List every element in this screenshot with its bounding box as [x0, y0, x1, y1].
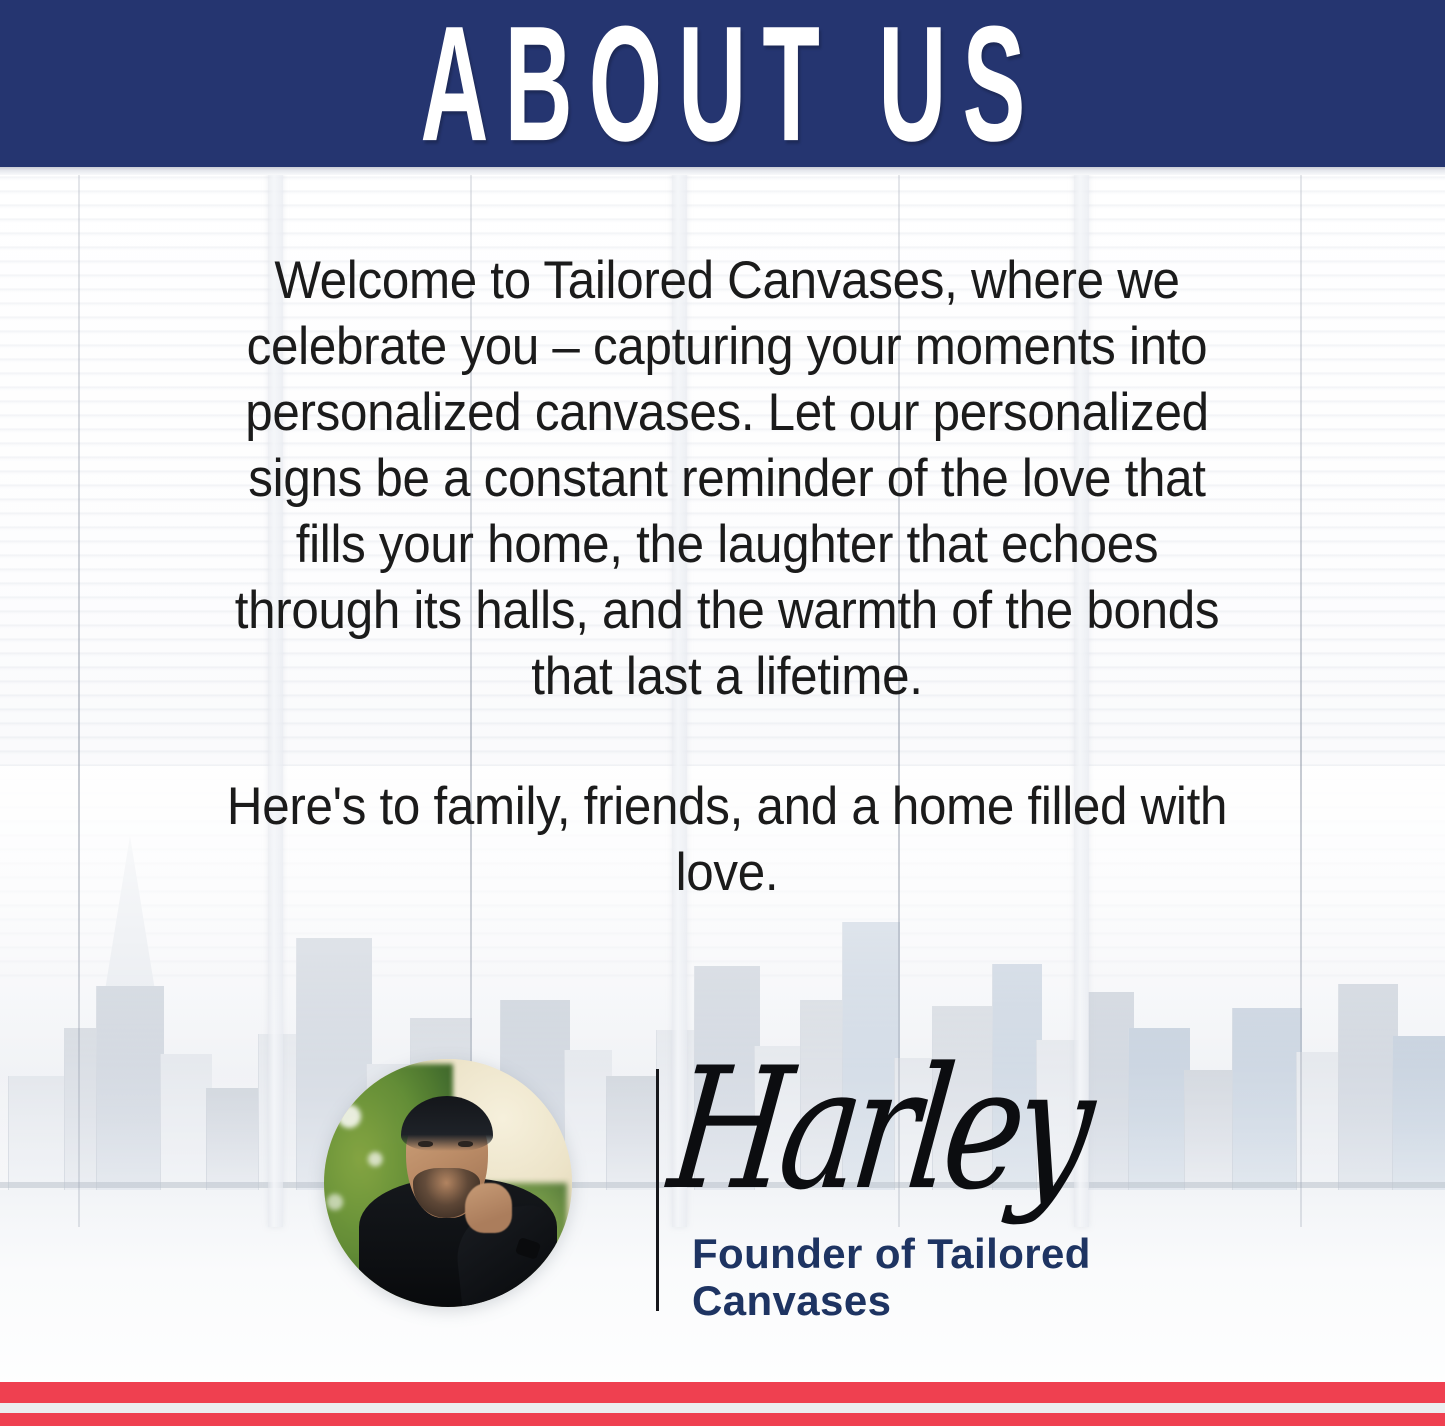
footer-accent-bar-bottom — [0, 1413, 1445, 1426]
signature-divider — [656, 1069, 659, 1311]
about-us-page: ABOUT US — [0, 0, 1445, 1426]
header-underline — [0, 167, 1445, 175]
footer-gap-bar — [0, 1403, 1445, 1413]
about-paragraph-2: Here's to family, friends, and a home fi… — [211, 774, 1243, 906]
founder-signature-name: Harley — [663, 1045, 1094, 1213]
about-copy: Welcome to Tailored Canvases, where we c… — [172, 248, 1282, 906]
founder-portrait-image — [324, 1059, 572, 1307]
founder-role-label: Founder of Tailored Canvases — [692, 1230, 1162, 1324]
about-paragraph-1: Welcome to Tailored Canvases, where we c… — [211, 248, 1243, 710]
founder-signature-block: Harley Founder of Tailored Canvases — [320, 1055, 1220, 1325]
avatar — [324, 1059, 572, 1307]
header-band: ABOUT US — [0, 0, 1445, 167]
footer-accent-bar-top — [0, 1382, 1445, 1403]
page-title: ABOUT US — [404, 3, 1041, 165]
